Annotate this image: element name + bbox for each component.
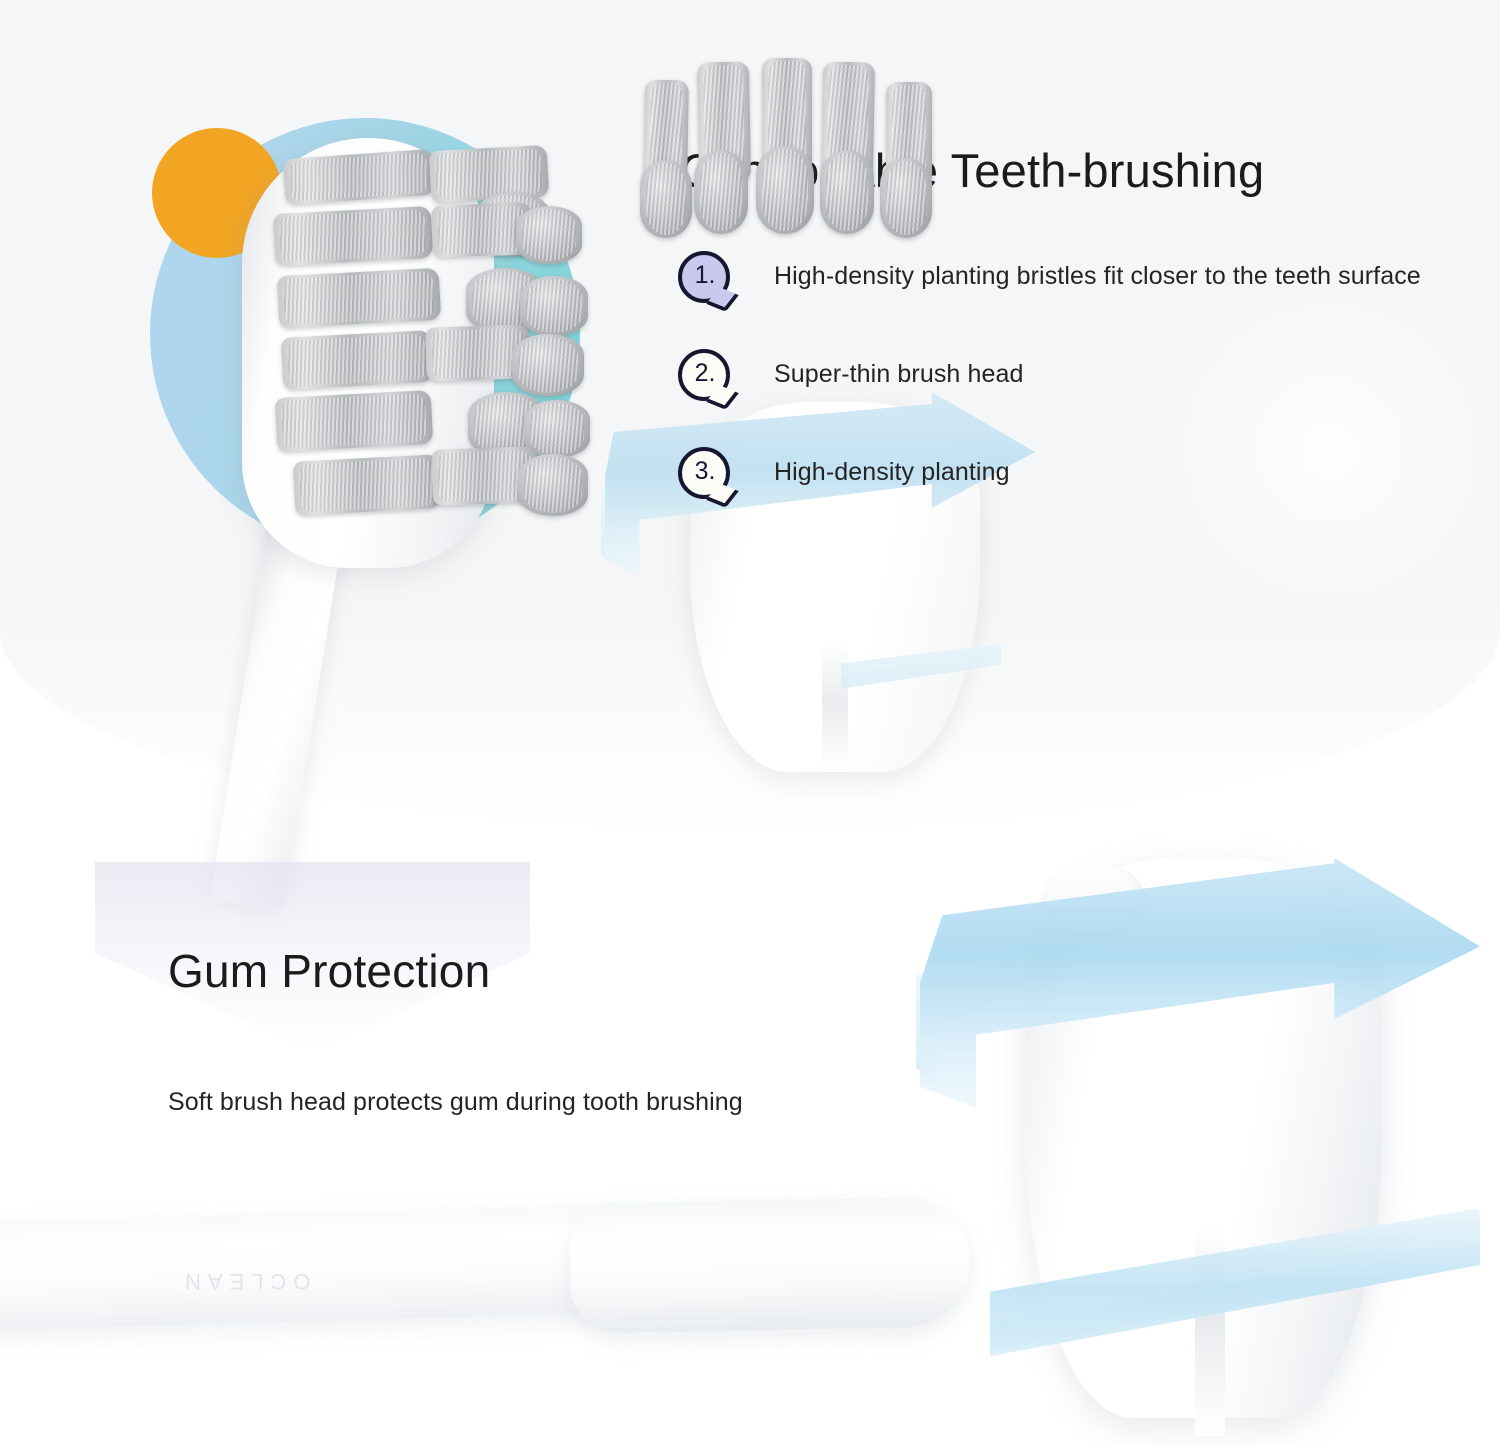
badge-number-3: 3. <box>678 447 730 499</box>
badge-label: 2. <box>695 361 716 386</box>
badge-label: 3. <box>695 459 716 484</box>
badge-number-1: 1. <box>678 251 730 303</box>
product-infographic: Comfortable Teeth-brushing 1. High-densi… <box>0 0 1500 1445</box>
bottom-bristle-cluster <box>640 58 1008 258</box>
feature-item-3: 3. High-density planting <box>680 443 1440 503</box>
brush-head-closeup-image <box>150 110 610 810</box>
badge-tail-icon <box>712 289 731 308</box>
bristle-cluster <box>280 148 590 556</box>
toothbrush-head <box>569 1197 971 1334</box>
feature-text-3: High-density planting <box>774 458 1010 487</box>
feature-item-2: 2. Super-thin brush head <box>680 345 1440 405</box>
bottom-toothbrush-image <box>0 1196 1020 1445</box>
badge-number-2: 2. <box>678 349 730 401</box>
section-two-subtitle: Soft brush head protects gum during toot… <box>168 1088 743 1117</box>
brand-logo-text: OCLEAN <box>178 1268 310 1294</box>
badge-label: 1. <box>695 263 716 288</box>
feature-text-2: Super-thin brush head <box>774 360 1024 389</box>
toothbrush-handle <box>0 1205 621 1331</box>
feature-list: 1. High-density planting bristles fit cl… <box>680 247 1440 503</box>
badge-tail-icon <box>712 485 731 504</box>
feature-text-1: High-density planting bristles fit close… <box>774 262 1421 291</box>
section-two-title: Gum Protection <box>168 944 490 998</box>
badge-tail-icon <box>712 387 731 406</box>
